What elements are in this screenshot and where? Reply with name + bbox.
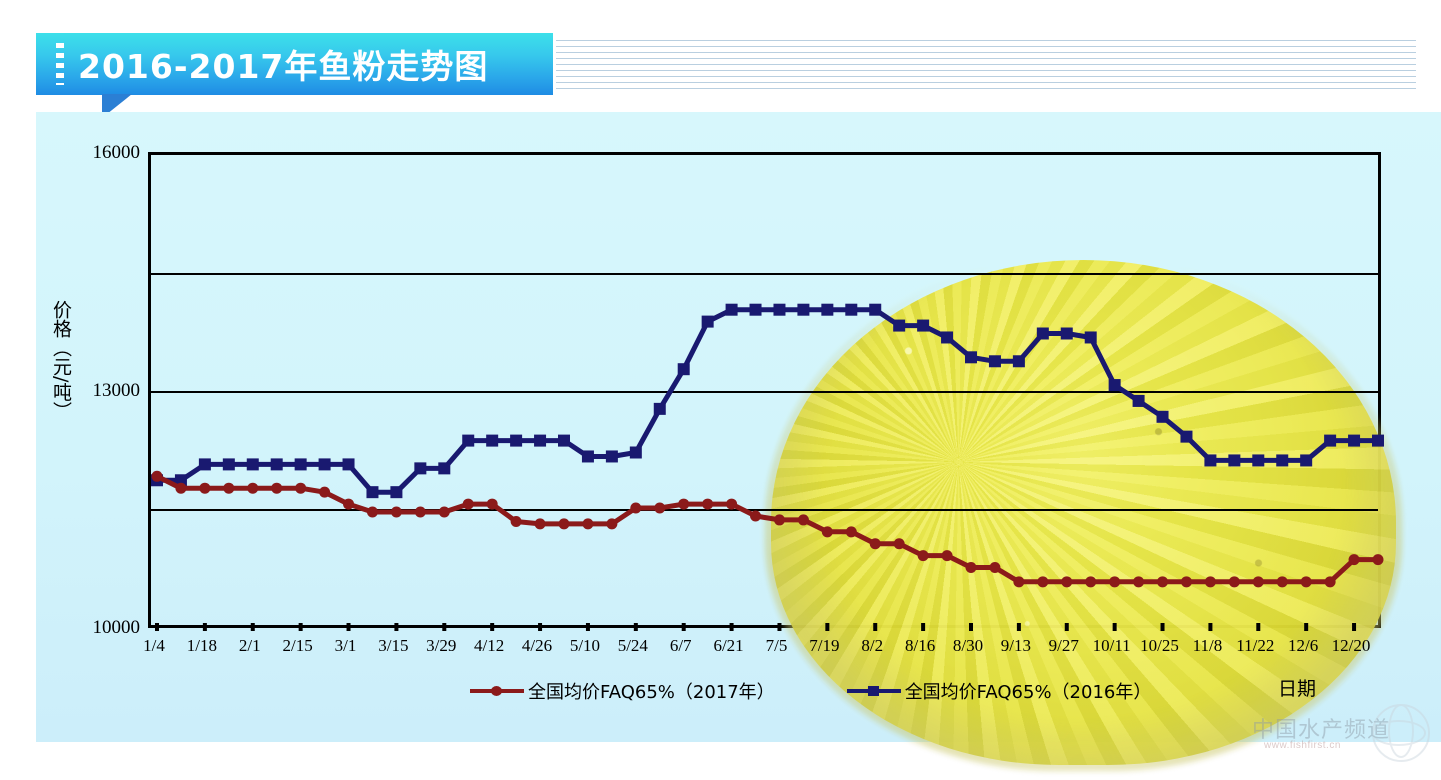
data-point [511,516,522,527]
data-point [487,499,498,510]
data-point [486,435,498,447]
data-point [1300,454,1312,466]
data-point [1229,576,1240,587]
data-point [822,526,833,537]
watermark: 中国水产频道 www.fishfirst.cn [1252,700,1432,772]
x-tick-9-27: 9/27 [1049,636,1079,656]
decor-line [556,82,1416,83]
data-point [1013,355,1025,367]
x-tick-8-16: 8/16 [905,636,935,656]
data-point [366,486,378,498]
data-point [1204,454,1216,466]
y-axis-title-wrap: 价格（元/吨） [48,300,78,420]
data-point [535,518,546,529]
data-point [774,514,785,525]
data-point [462,435,474,447]
data-point [917,320,929,332]
plot-area [148,152,1381,628]
data-point [1133,576,1144,587]
decor-line [556,40,1416,41]
x-tick-5-24: 5/24 [618,636,648,656]
data-point [199,483,210,494]
x-tick-7-5: 7/5 [766,636,788,656]
data-point [1252,454,1264,466]
watermark-url: www.fishfirst.cn [1264,740,1341,751]
data-point [869,304,881,316]
x-tick-1-18: 1/18 [187,636,217,656]
data-point [894,538,905,549]
x-tick-4-12: 4/12 [474,636,504,656]
data-point [893,320,905,332]
x-axis-title: 日期 [1278,674,1316,701]
legend-label-2016: 全国均价FAQ65%（2016年） [905,678,1152,704]
x-tick-12-20: 12/20 [1332,636,1371,656]
data-point [438,462,450,474]
data-point [773,304,785,316]
data-point [367,507,378,518]
x-tick-3-29: 3/29 [426,636,456,656]
data-point [702,316,714,328]
data-point [463,499,474,510]
x-tick-4-26: 4/26 [522,636,552,656]
data-point [559,518,570,529]
x-tick-5-10: 5/10 [570,636,600,656]
data-point [223,458,235,470]
data-point [1037,328,1049,340]
x-tick-10-11: 10/11 [1093,636,1131,656]
data-point [1061,576,1072,587]
data-point [510,435,522,447]
data-point [750,510,761,521]
slide-page: 2016-2017年鱼粉走势图 价格（元/吨） 16000 13000 1000… [0,0,1441,780]
data-point [343,458,355,470]
x-tick-2-15: 2/15 [283,636,313,656]
legend-item-2016[interactable]: 全国均价FAQ65%（2016年） [847,678,1152,704]
data-point [223,483,234,494]
data-point [654,503,665,514]
x-tick-3-1: 3/1 [335,636,357,656]
data-point [415,507,426,518]
data-point [414,462,426,474]
data-point [1180,431,1192,443]
data-point [319,487,330,498]
y-tick-10000: 10000 [75,617,140,639]
data-point [1373,554,1384,565]
data-point [1276,454,1288,466]
data-point [1157,576,1168,587]
data-point [606,518,617,529]
data-point [319,458,331,470]
data-point [1085,331,1097,343]
data-point [1349,554,1360,565]
decor-line [556,64,1416,65]
x-tick-3-15: 3/15 [378,636,408,656]
data-point [1325,576,1336,587]
data-point [1157,411,1169,423]
data-point [630,503,641,514]
data-point [295,483,306,494]
data-point [1085,576,1096,587]
legend-swatch-2017 [470,684,524,698]
data-point [1348,435,1360,447]
data-point [1228,454,1240,466]
x-tick-8-2: 8/2 [861,636,883,656]
data-point [750,304,762,316]
x-tick-10-25: 10/25 [1140,636,1179,656]
data-point [1277,576,1288,587]
decor-line [556,70,1416,71]
data-point [654,403,666,415]
data-point [199,458,211,470]
data-point [870,538,881,549]
decor-line [556,88,1416,89]
data-point [1061,328,1073,340]
data-point [797,304,809,316]
line-2017 [157,476,1378,582]
x-tick-2-1: 2/1 [239,636,261,656]
data-point [678,363,690,375]
x-tick-6-21: 6/21 [713,636,743,656]
data-point [941,331,953,343]
data-point [965,351,977,363]
data-point [271,483,282,494]
x-tick-9-13: 9/13 [1001,636,1031,656]
decor-line [556,58,1416,59]
data-point [1372,435,1384,447]
data-point [726,499,737,510]
data-point [271,458,283,470]
data-point [439,507,450,518]
x-tick-6-7: 6/7 [670,636,692,656]
y-tick-13000: 13000 [75,380,140,402]
legend-swatch-2016 [847,684,901,698]
data-point [606,450,618,462]
x-tick-11-8: 11/8 [1193,636,1223,656]
dotted-divider-icon [56,43,64,85]
title-banner: 2016-2017年鱼粉走势图 [36,33,553,95]
data-point [1253,576,1264,587]
data-point [1013,576,1024,587]
y-axis-title: 价格（元/吨） [48,300,75,420]
x-tick-11-22: 11/22 [1236,636,1274,656]
data-point [989,355,1001,367]
data-point [702,499,713,510]
x-tick-7-19: 7/19 [809,636,839,656]
data-point [966,562,977,573]
data-point [582,450,594,462]
data-point [1037,576,1048,587]
data-point [798,514,809,525]
data-point [1109,576,1120,587]
data-point [343,499,354,510]
y-tick-16000: 16000 [75,142,140,164]
data-point [942,550,953,561]
data-point [845,304,857,316]
data-point [1133,395,1145,407]
decor-line [556,52,1416,53]
data-point [678,499,689,510]
chart-legend: 全国均价FAQ65%（2017年） 全国均价FAQ65%（2016年） [470,678,1151,704]
data-point [821,304,833,316]
data-point [247,483,258,494]
legend-label-2017: 全国均价FAQ65%（2017年） [528,678,775,704]
data-point [247,458,259,470]
page-title: 2016-2017年鱼粉走势图 [78,40,488,88]
data-point [989,562,1000,573]
data-point [1205,576,1216,587]
decor-line [556,46,1416,47]
data-point [1109,379,1121,391]
data-point [175,483,186,494]
data-point [534,435,546,447]
data-point [390,486,402,498]
x-tick-1-4: 1/4 [143,636,165,656]
data-point [918,550,929,561]
banner-decor-lines [556,40,1416,90]
line-2016 [157,310,1378,493]
decor-line [556,76,1416,77]
data-point [295,458,307,470]
data-point [391,507,402,518]
data-point [152,471,163,482]
legend-item-2017[interactable]: 全国均价FAQ65%（2017年） [470,678,775,704]
x-tick-12-6: 12/6 [1288,636,1318,656]
data-point [1181,576,1192,587]
data-point [582,518,593,529]
data-point [1324,435,1336,447]
series-svg [151,155,1384,631]
data-point [630,447,642,459]
data-point [1301,576,1312,587]
data-point [558,435,570,447]
data-point [726,304,738,316]
data-point [846,526,857,537]
x-tick-8-30: 8/30 [953,636,983,656]
